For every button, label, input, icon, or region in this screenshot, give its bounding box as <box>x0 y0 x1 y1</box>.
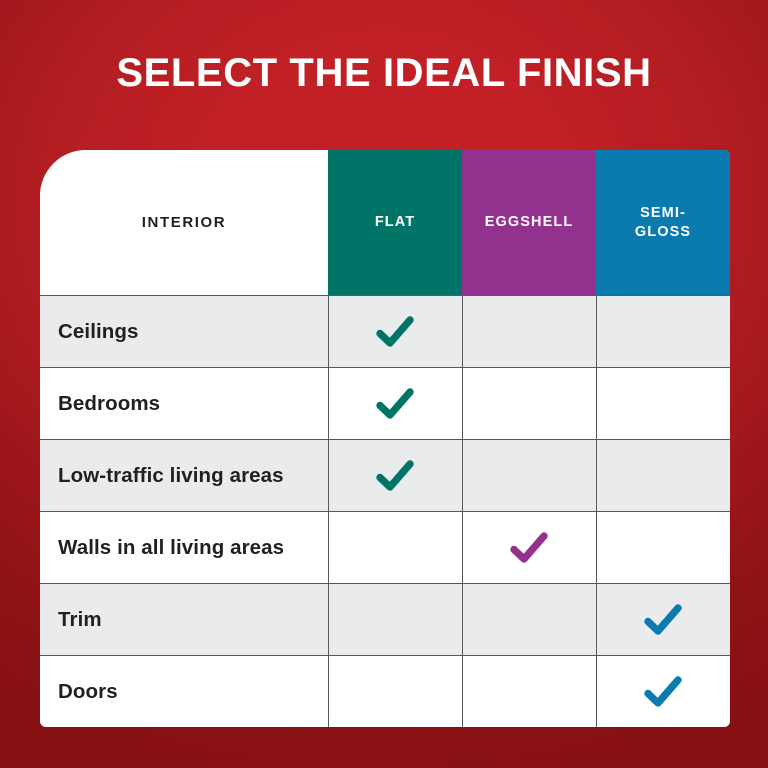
row-label-cell: Ceilings <box>40 296 328 367</box>
row-label: Walls in all living areas <box>40 536 284 560</box>
finish-selection-table: INTERIOR FLAT EGGSHELL SEMI- GLOSS Ceili… <box>40 150 730 727</box>
table-row: Doors <box>40 655 730 727</box>
row-label-cell: Bedrooms <box>40 368 328 439</box>
cell-eggshell <box>462 440 596 511</box>
cell-eggshell <box>462 584 596 655</box>
table-row: Trim <box>40 583 730 655</box>
table-row: Ceilings <box>40 295 730 367</box>
table-row: Low-traffic living areas <box>40 439 730 511</box>
checkmark-icon <box>372 453 418 499</box>
column-header-semi-gloss-label: SEMI- GLOSS <box>635 204 691 242</box>
checkmark-icon <box>372 381 418 427</box>
cell-eggshell <box>462 656 596 727</box>
row-label: Ceilings <box>40 320 139 344</box>
row-label-cell: Walls in all living areas <box>40 512 328 583</box>
cell-eggshell <box>462 296 596 367</box>
checkmark-icon <box>506 525 552 571</box>
cell-flat <box>328 512 462 583</box>
row-label: Low-traffic living areas <box>40 464 284 488</box>
cell-semi-gloss <box>596 512 730 583</box>
cell-flat <box>328 584 462 655</box>
table-row: Walls in all living areas <box>40 511 730 583</box>
cell-eggshell <box>462 512 596 583</box>
column-header-semi-gloss: SEMI- GLOSS <box>596 150 730 295</box>
cell-eggshell <box>462 368 596 439</box>
column-header-interior: INTERIOR <box>40 150 328 295</box>
column-header-eggshell-label: EGGSHELL <box>485 213 574 232</box>
row-label-cell: Doors <box>40 656 328 727</box>
row-label: Trim <box>40 608 102 632</box>
cell-flat <box>328 296 462 367</box>
table-body: CeilingsBedroomsLow-traffic living areas… <box>40 295 730 727</box>
cell-semi-gloss <box>596 296 730 367</box>
column-header-semi-gloss-line2: GLOSS <box>635 224 691 240</box>
cell-semi-gloss <box>596 440 730 511</box>
cell-flat <box>328 656 462 727</box>
table-header-row: INTERIOR FLAT EGGSHELL SEMI- GLOSS <box>40 150 730 295</box>
checkmark-icon <box>640 669 686 715</box>
row-label: Bedrooms <box>40 392 160 416</box>
column-header-semi-gloss-line1: SEMI- <box>640 205 686 221</box>
poster-background: SELECT THE IDEAL FINISH INTERIOR FLAT EG… <box>0 0 768 768</box>
column-header-flat-label: FLAT <box>375 213 415 232</box>
table-row: Bedrooms <box>40 367 730 439</box>
column-header-flat: FLAT <box>328 150 462 295</box>
column-header-interior-label: INTERIOR <box>142 213 226 232</box>
checkmark-icon <box>640 597 686 643</box>
cell-semi-gloss <box>596 656 730 727</box>
checkmark-icon <box>372 309 418 355</box>
row-label-cell: Low-traffic living areas <box>40 440 328 511</box>
cell-flat <box>328 368 462 439</box>
cell-semi-gloss <box>596 368 730 439</box>
row-label-cell: Trim <box>40 584 328 655</box>
row-label: Doors <box>40 680 118 704</box>
column-header-eggshell: EGGSHELL <box>462 150 596 295</box>
cell-flat <box>328 440 462 511</box>
page-title: SELECT THE IDEAL FINISH <box>0 50 768 96</box>
cell-semi-gloss <box>596 584 730 655</box>
